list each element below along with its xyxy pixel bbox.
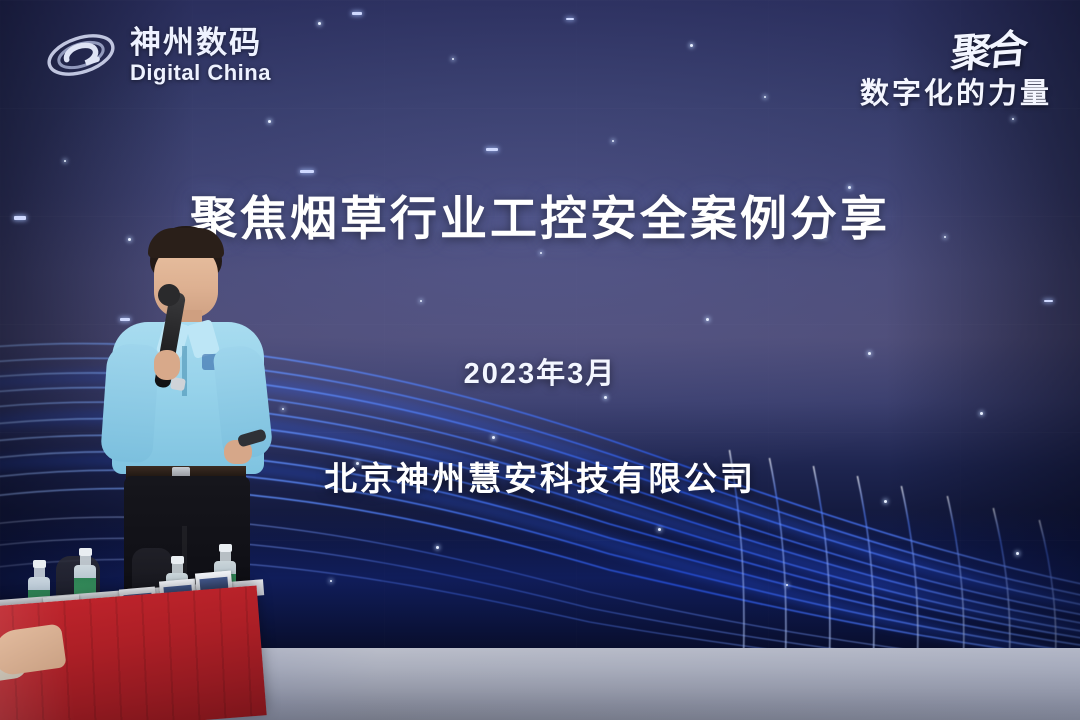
logo-wordmark: 神州数码 Digital China xyxy=(130,27,271,84)
bottle-cap xyxy=(79,548,92,556)
brand-calligraphy: 聚合 xyxy=(949,15,1055,80)
bottle-cap xyxy=(219,544,232,552)
digital-china-logo: 神州数码 Digital China xyxy=(44,22,271,88)
bottle-neck xyxy=(172,564,183,573)
bottle-neck xyxy=(34,568,45,577)
speaker-hand-left xyxy=(154,350,180,380)
speaker-arm-left xyxy=(100,342,160,463)
swirl-galaxy-logo-icon xyxy=(44,22,118,88)
event-brand-lockup: 聚合 数字化的力量 xyxy=(860,18,1052,112)
bottle-neck xyxy=(220,552,231,561)
logo-name-cn: 神州数码 xyxy=(130,27,271,58)
swirl-svg xyxy=(44,22,118,88)
logo-name-en: Digital China xyxy=(130,62,271,84)
speaker-person xyxy=(96,226,284,626)
bottle-cap xyxy=(171,556,184,564)
bottle-cap xyxy=(33,560,46,568)
speaker-hair-front xyxy=(148,228,224,258)
bottle-neck xyxy=(80,556,91,565)
conference-stage-scene: 神州数码 Digital China 聚合 数字化的力量 聚焦烟草行业工控安全案… xyxy=(0,0,1080,720)
